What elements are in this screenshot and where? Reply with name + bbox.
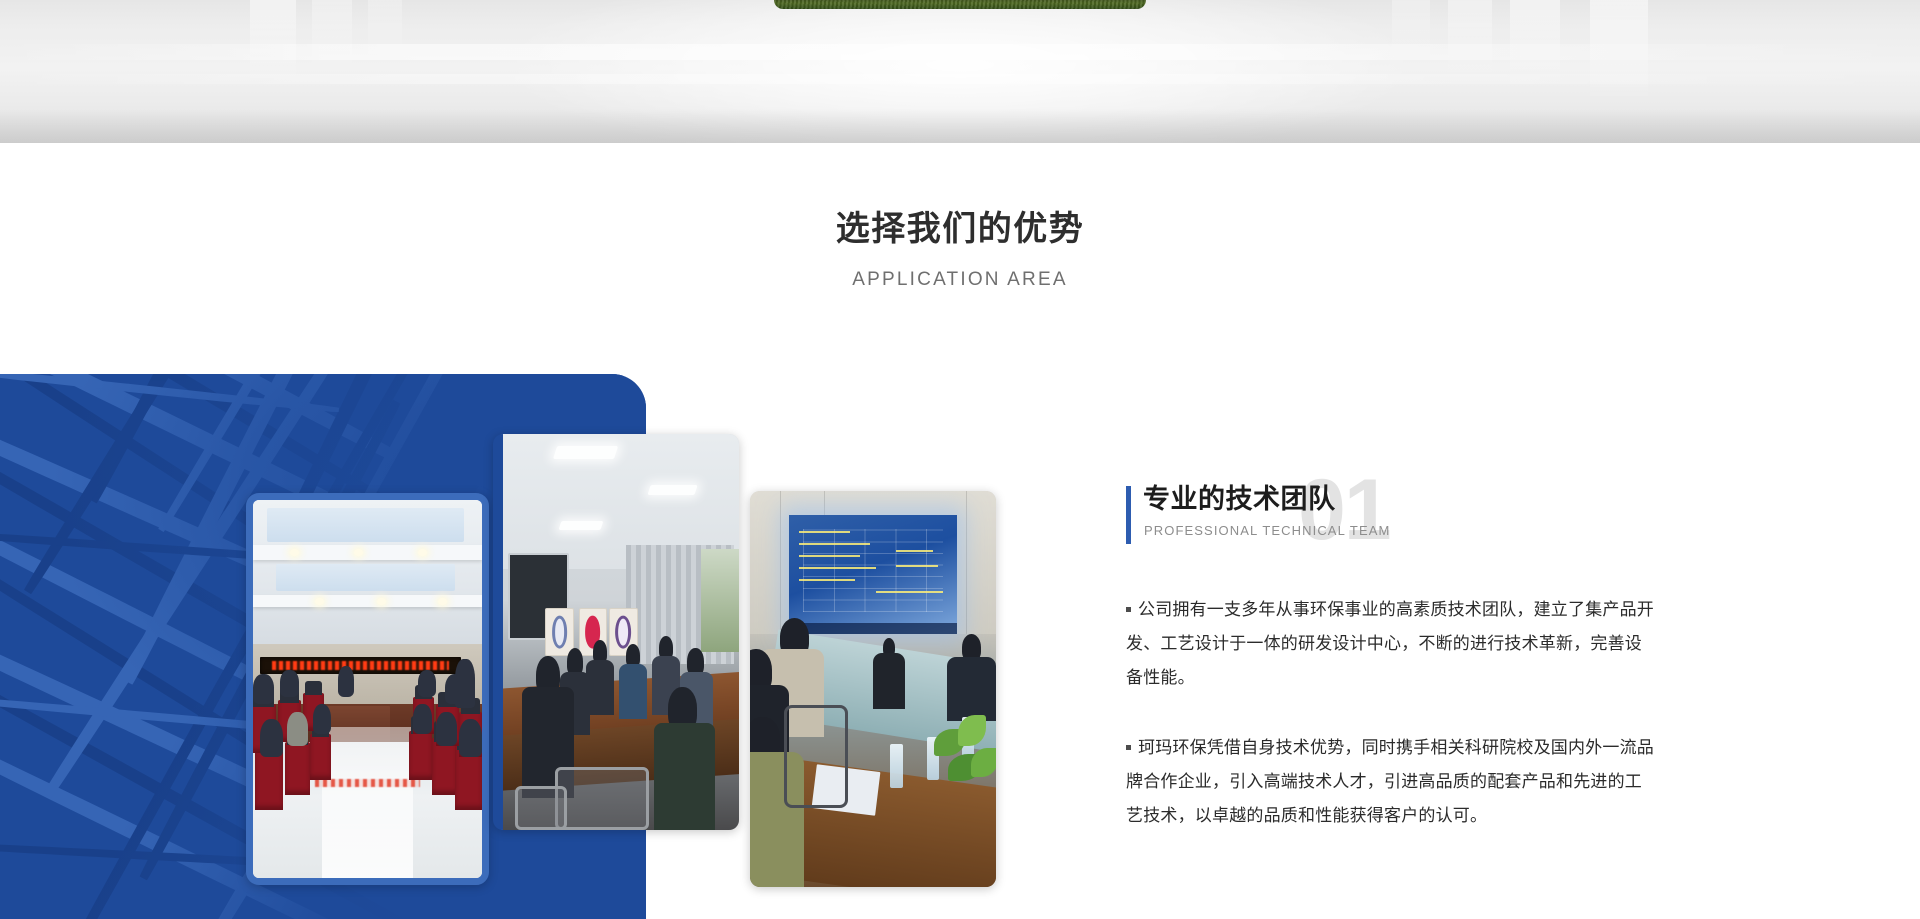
accent-bar bbox=[1126, 486, 1131, 544]
page-title: 选择我们的优势 bbox=[0, 209, 1920, 250]
bullet-icon bbox=[1126, 607, 1131, 612]
gallery-photo-projector-review[interactable] bbox=[750, 491, 996, 887]
feature-paragraph-2-text: 珂玛环保凭借自身技术优势，同时携手相关科研院校及国内外一流品牌合作企业，引入高端… bbox=[1126, 738, 1654, 825]
gallery-photo-auditorium[interactable] bbox=[246, 493, 489, 885]
gallery-photo-meeting-room[interactable] bbox=[493, 434, 739, 830]
page-subtitle: APPLICATION AREA bbox=[0, 269, 1920, 291]
feature-paragraph-1-text: 公司拥有一支多年从事环保事业的高素质技术团队，建立了集产品开发、工艺设计于一体的… bbox=[1126, 600, 1654, 687]
feature-heading-block: 01 专业的技术团队 PROFESSIONAL TECHNICAL TEAM bbox=[1126, 483, 1656, 555]
feature-paragraph-1: 公司拥有一支多年从事环保事业的高素质技术团队，建立了集产品开发、工艺设计于一体的… bbox=[1126, 593, 1656, 695]
projector-screen-icon bbox=[789, 515, 956, 634]
feature-heading-en: PROFESSIONAL TECHNICAL TEAM bbox=[1144, 523, 1656, 538]
feature-paragraph-2: 珂玛环保凭借自身技术优势，同时携手相关科研院校及国内外一流品牌合作企业，引入高端… bbox=[1126, 731, 1656, 833]
hero-bottom-shade bbox=[0, 109, 1920, 143]
page-root: 选择我们的优势 APPLICATION AREA bbox=[0, 0, 1920, 919]
grass-strip-icon bbox=[774, 0, 1146, 9]
section-header: 选择我们的优势 APPLICATION AREA bbox=[0, 143, 1920, 291]
feature-content: 01 专业的技术团队 PROFESSIONAL TECHNICAL TEAM 公… bbox=[1126, 483, 1656, 833]
bullet-icon bbox=[1126, 745, 1131, 750]
hero-banner-remnant bbox=[0, 0, 1920, 143]
feature-heading-cn: 专业的技术团队 bbox=[1143, 483, 1656, 517]
